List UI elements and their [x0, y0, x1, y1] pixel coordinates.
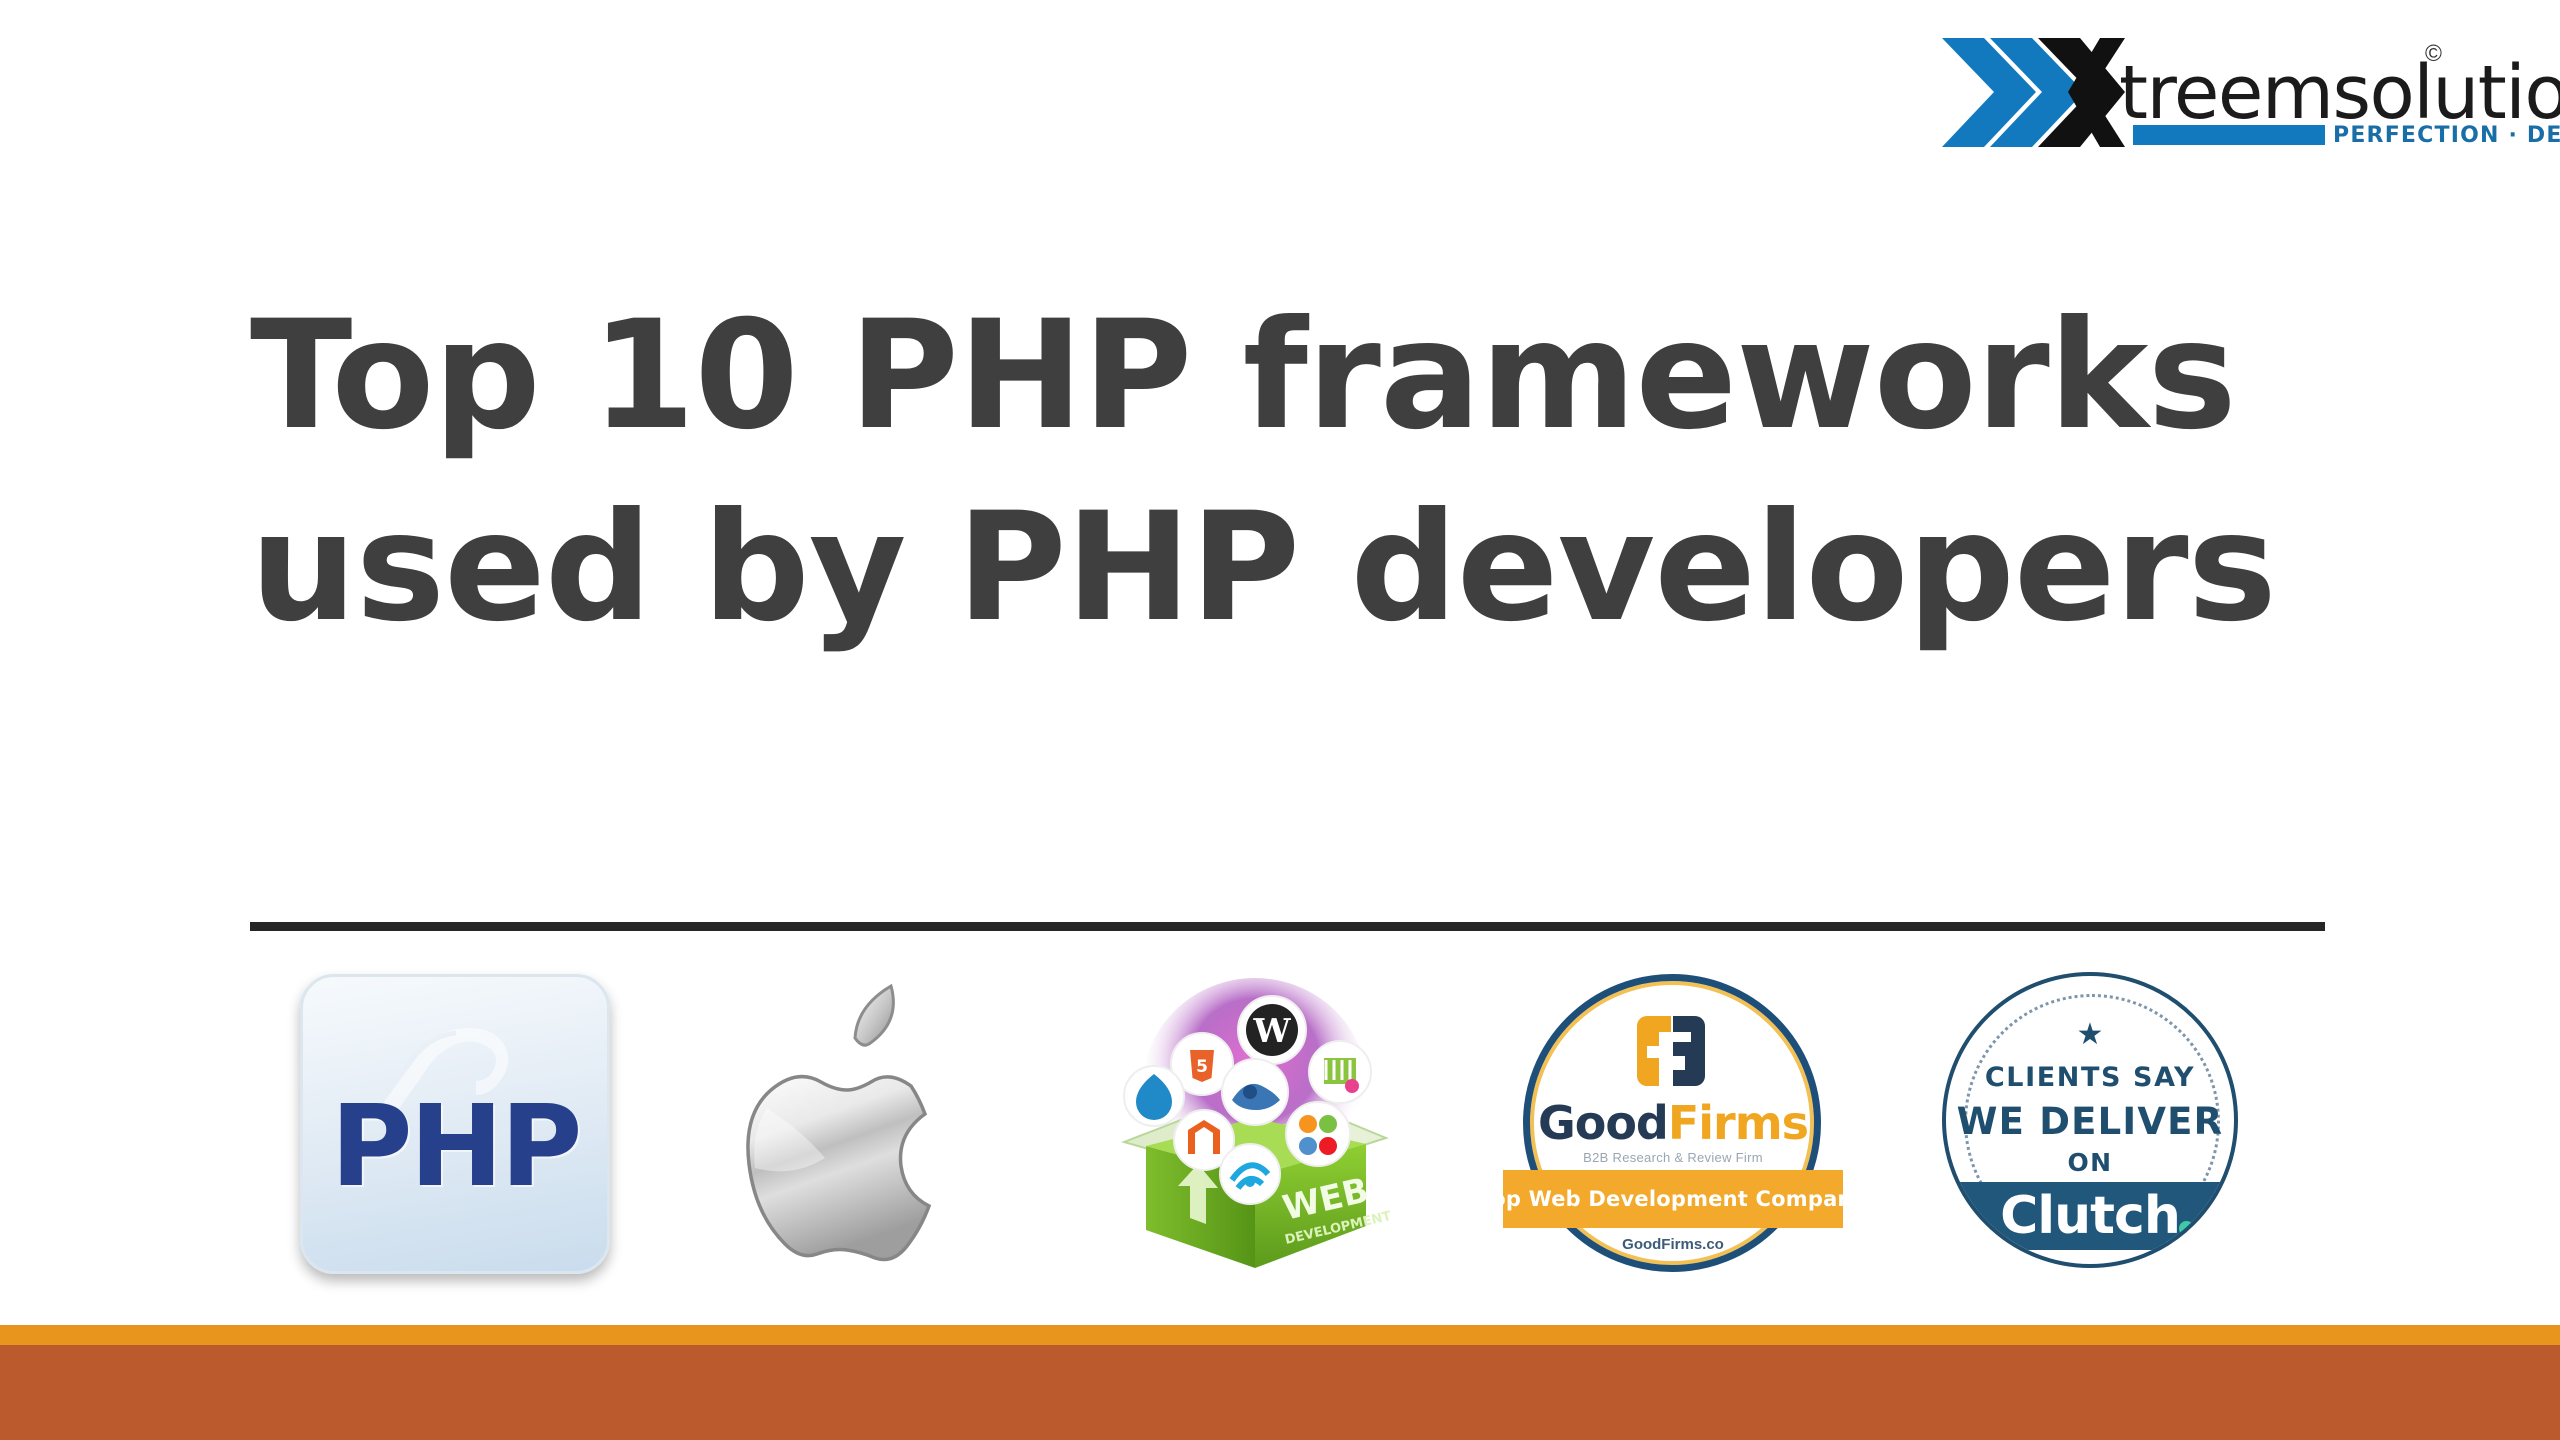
footer-accent-stripe — [0, 1325, 2560, 1345]
clutch-line-1: CLIENTS SAY — [1946, 1062, 2234, 1093]
goodfirms-ribbon-text: Top Web Development Company — [1503, 1170, 1843, 1228]
page-title: Top 10 PHP frameworks used by PHP develo… — [250, 280, 2340, 664]
clutch-ring: ★ CLIENTS SAY WE DELIVER ON Clutch — [1942, 972, 2238, 1268]
copyright-icon: © — [2425, 40, 2442, 67]
clutch-star-icon: ★ — [1946, 1020, 2234, 1050]
web-development-box-icon: WEB DEVELOPMENT 5 W — [1090, 968, 1420, 1278]
clutch-wordmark: Clutch — [2000, 1186, 2180, 1246]
apple-logo-icon — [705, 978, 1005, 1268]
badge-row: PHP — [250, 968, 2330, 1278]
clutch-brand-band: Clutch — [1946, 1182, 2234, 1250]
php-logo-badge: PHP — [300, 974, 610, 1274]
title-line-1: Top 10 PHP frameworks — [250, 280, 2340, 472]
php-label: PHP — [303, 1082, 607, 1212]
apple-logo-badge — [705, 978, 1005, 1268]
slide: treemsolution © PERFECTION · DELIVERED T… — [0, 0, 2560, 1440]
svg-text:5: 5 — [1196, 1057, 1208, 1077]
title-line-2: used by PHP developers — [250, 472, 2340, 664]
goodfirms-logo-icon — [1633, 1012, 1711, 1090]
brand-tagline: PERFECTION · DELIVERED — [2333, 123, 2560, 148]
horizontal-divider — [250, 922, 2325, 931]
goodfirms-word-good: Good — [1538, 1096, 1668, 1150]
svg-text:W: W — [1252, 1011, 1291, 1050]
clutch-accent-dot-icon — [2179, 1221, 2194, 1236]
web-development-box-badge: WEB DEVELOPMENT 5 W — [1090, 968, 1420, 1278]
goodfirms-subtitle: B2B Research & Review Firm — [1513, 1150, 1833, 1165]
clutch-badge: ★ CLIENTS SAY WE DELIVER ON Clutch — [1930, 968, 2250, 1278]
goodfirms-word-firms: Firms — [1668, 1096, 1808, 1150]
footer-bar — [0, 1345, 2560, 1440]
goodfirms-badge: GoodFirms B2B Research & Review Firm Top… — [1513, 974, 1833, 1272]
double-chevron-x-logo-icon — [1940, 30, 2125, 155]
goodfirms-wordmark: GoodFirms — [1513, 1096, 1833, 1150]
clutch-line-3: ON — [1946, 1148, 2234, 1177]
brand-logo: treemsolution © PERFECTION · DELIVERED — [1940, 30, 2540, 160]
brand-accent-bar — [2133, 125, 2325, 145]
brand-wordmark-wrap: treemsolution © PERFECTION · DELIVERED — [2119, 30, 2540, 155]
clutch-line-2: WE DELIVER — [1946, 1100, 2234, 1143]
goodfirms-footer-text: GoodFirms.co — [1513, 1236, 1833, 1253]
